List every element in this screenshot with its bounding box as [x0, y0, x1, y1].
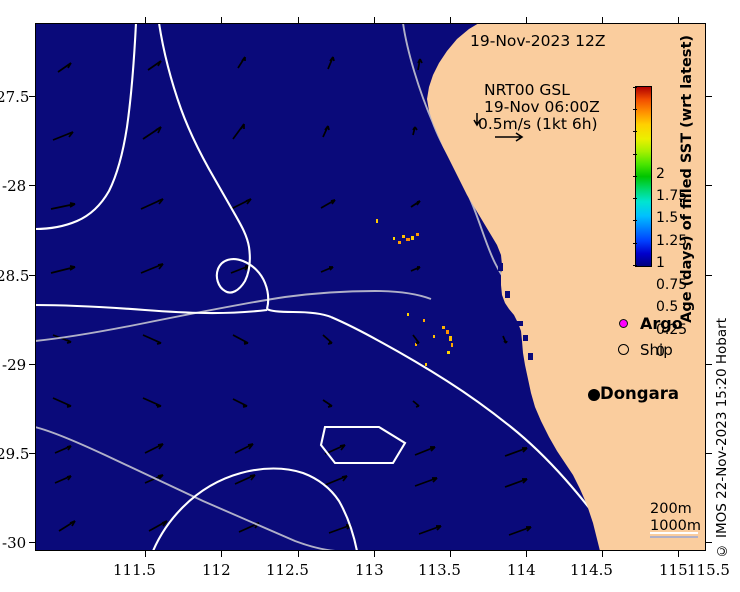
colorbar-tick	[633, 154, 637, 155]
colorbar-tick	[633, 198, 637, 199]
x-tick-label: 114.5	[570, 561, 613, 579]
x-tick-3	[298, 551, 299, 557]
x-tick-5	[450, 551, 451, 557]
y-tick-right-3	[706, 275, 712, 276]
x-tick-label: 113	[355, 561, 384, 579]
current-source-label: NRT00 GSL	[484, 81, 570, 99]
x-tick-4	[374, 551, 375, 557]
current-time-label: 19-Nov 06:00Z	[484, 98, 600, 116]
x-tick-label: 115.5	[687, 561, 730, 579]
y-tick-label: -27.5	[0, 88, 29, 106]
right-arrow-icon	[494, 130, 528, 144]
y-tick-right-1	[706, 96, 712, 97]
colorbar-gradient	[635, 86, 652, 267]
dongara-label: Dongara	[600, 384, 679, 403]
colorbar: 2 1.75 1.5 1.25 1 0.75 0.5 0.25 0	[635, 86, 652, 267]
current-vector-tick-icon	[472, 112, 484, 128]
colorbar-tick	[633, 87, 637, 88]
colorbar-tick	[633, 220, 637, 221]
depth-key-line-1000m	[650, 536, 698, 538]
x-tick-label: 115	[659, 561, 688, 579]
legend-label-argo: Argo	[640, 314, 683, 333]
x-tick-label: 113.5	[418, 561, 461, 579]
map-svg	[35, 23, 706, 551]
legend: Argo Ship	[612, 313, 683, 360]
colorbar-tick-label: 1	[656, 255, 665, 271]
x-tick-1	[145, 551, 146, 557]
map-layers	[35, 23, 706, 551]
legend-label-ship: Ship	[640, 341, 673, 359]
credit-text: © IMOS 22-Nov-2023 15:20 Hobart	[714, 318, 730, 558]
y-tick-label: -29.5	[0, 445, 29, 463]
colorbar-tick-label: 2	[656, 166, 665, 182]
y-tick-right-5	[706, 453, 712, 454]
colorbar-title: Age (days) of filled SST (wrt latest)	[679, 35, 695, 323]
x-tick-6	[526, 551, 527, 557]
colorbar-tick-label: 1.5	[656, 210, 678, 226]
dongara-city-dot-icon	[588, 389, 600, 401]
legend-item-ship[interactable]: Ship	[612, 339, 683, 360]
colorbar-tick	[633, 109, 637, 110]
x-tick-7	[602, 551, 603, 557]
x-tick-2	[221, 551, 222, 557]
depth-key-line-200m	[650, 532, 698, 534]
argo-marker-icon	[612, 319, 634, 328]
y-tick-right-4	[706, 364, 712, 365]
colorbar-tick	[633, 243, 637, 244]
x-tick-label: 112	[202, 561, 231, 579]
depth-key-shallow: 200m	[650, 498, 701, 515]
depth-contour-key: 200m 1000m	[650, 498, 701, 532]
y-tick-label: -30	[2, 534, 26, 552]
x-tick-label: 112.5	[266, 561, 309, 579]
colorbar-tick	[633, 131, 637, 132]
y-tick-label: -29	[2, 356, 26, 374]
y-tick-right-6	[706, 542, 712, 543]
depth-key-deep: 1000m	[650, 515, 701, 532]
y-tick-right-2	[706, 185, 712, 186]
y-tick-label: -28.5	[0, 267, 29, 285]
x-tick-8	[678, 551, 679, 557]
x-tick-label: 114	[507, 561, 536, 579]
legend-item-argo[interactable]: Argo	[612, 313, 683, 334]
colorbar-tick	[633, 265, 637, 266]
x-tick-label: 111.5	[113, 561, 156, 579]
map-plot-area[interactable]	[35, 23, 706, 551]
colorbar-tick	[633, 176, 637, 177]
y-tick-label: -28	[2, 177, 26, 195]
date-stamp: 19-Nov-2023 12Z	[470, 32, 605, 50]
ship-marker-icon	[612, 344, 634, 355]
